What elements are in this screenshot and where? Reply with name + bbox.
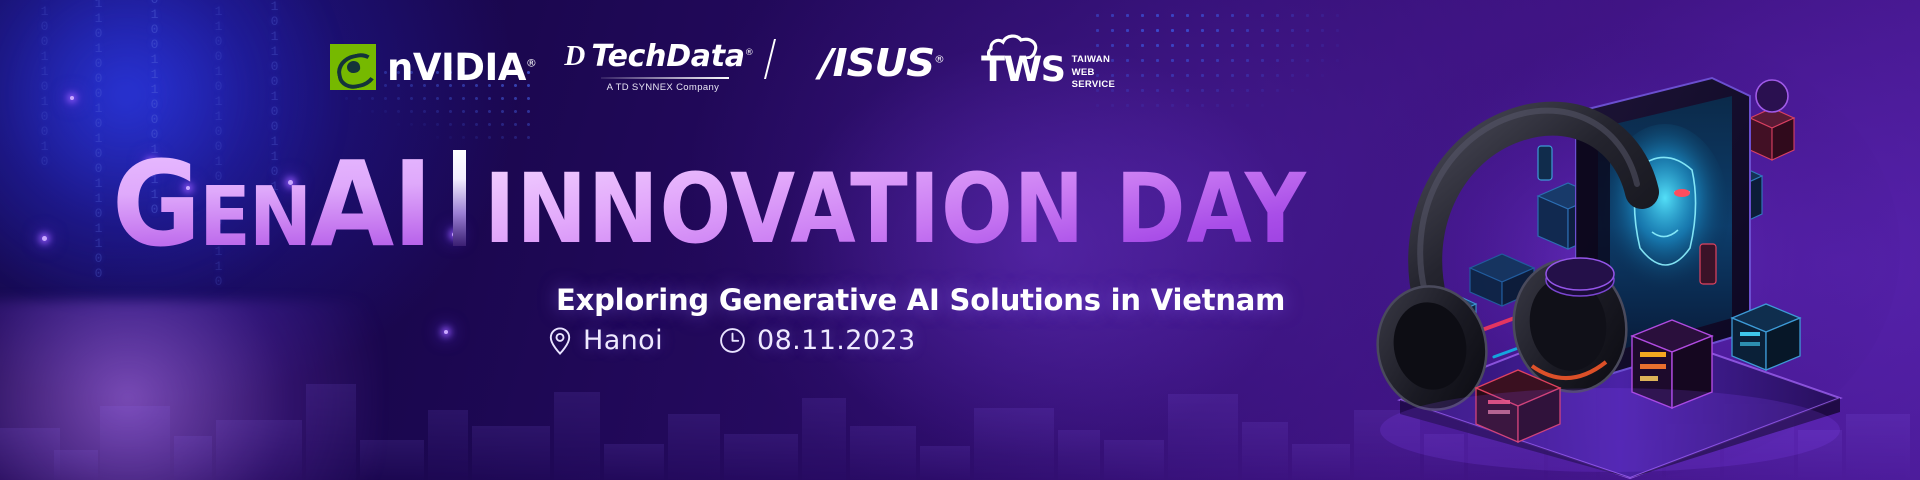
nvidia-eye-icon <box>330 44 376 90</box>
location-pin-icon <box>548 326 572 356</box>
binary-column: 1101000101001101100 <box>92 0 105 281</box>
base-reflection-glow <box>1380 388 1840 472</box>
headline-genai: GENAI <box>112 156 431 253</box>
logo-asus[interactable]: /ISUS® <box>819 36 937 98</box>
light-spark <box>70 96 74 100</box>
skyline-building <box>360 440 424 480</box>
partner-logo-strip: nVIDIA® D TechData® A TD SYNNEX Company … <box>330 36 1115 98</box>
headline-gen-g: G <box>112 135 199 273</box>
logo-techdata[interactable]: D TechData® A TD SYNNEX Company <box>562 36 763 98</box>
skyline-building <box>850 426 916 480</box>
headline-ai: AI <box>310 135 431 273</box>
binary-column: 0010011010010 <box>38 0 51 169</box>
logo-tws[interactable]: TWS TAIWAN WEB SERVICE <box>981 36 1115 98</box>
skyline-building <box>1168 394 1238 480</box>
light-spark <box>444 330 448 334</box>
skyline-building <box>54 450 98 480</box>
headline-divider <box>453 150 466 246</box>
event-date: 08.11.2023 <box>719 325 916 356</box>
tws-sub-line-3: SERVICE <box>1072 79 1116 92</box>
techdata-rule <box>601 77 729 79</box>
light-spark <box>42 236 47 241</box>
tws-mark: TWS <box>981 53 1065 88</box>
techdata-wordmark: TechData® <box>591 42 753 72</box>
techdata-d-icon: D <box>564 42 585 71</box>
skyline-building <box>724 434 798 480</box>
skyline-building <box>472 426 550 480</box>
headline: GENAI INNOVATION DAY <box>112 150 1419 253</box>
techdata-wordmark-row: D TechData® <box>562 42 763 75</box>
techdata-trademark: ® <box>745 48 754 58</box>
skyline-building <box>0 428 60 480</box>
event-location: Hanoi <box>548 325 663 356</box>
asus-trademark: ® <box>935 54 945 65</box>
headline-innovation-day: INNOVATION DAY <box>484 168 1307 253</box>
skyline-building <box>174 436 212 480</box>
event-location-label: Hanoi <box>583 325 663 356</box>
purple-glow-bottom-left <box>0 300 380 480</box>
event-date-label: 08.11.2023 <box>757 325 916 356</box>
subtitle: Exploring Generative AI Solutions in Vie… <box>556 283 1285 317</box>
skyline-building <box>1058 430 1100 480</box>
skyline-building <box>306 384 356 480</box>
skyline-building <box>668 414 720 480</box>
headline-gen-en: EN <box>199 170 310 265</box>
techdata-slash-mark <box>764 39 776 79</box>
techdata-tagline: A TD SYNNEX Company <box>607 82 720 93</box>
logo-nvidia[interactable]: nVIDIA® <box>330 36 536 98</box>
nvidia-wordmark: nVIDIA® <box>387 49 536 86</box>
asus-wordmark: /ISUS® <box>819 44 944 82</box>
skyline-building <box>920 446 970 480</box>
clock-icon <box>719 327 746 354</box>
tws-sub-line-2: WEB <box>1072 67 1116 80</box>
tws-sublabel: TAIWAN WEB SERVICE <box>1072 48 1116 92</box>
skyline-building <box>1104 440 1164 480</box>
genai-innovation-day-banner: 0010011010010110100010100110110010010011… <box>0 0 1920 480</box>
skyline-building <box>974 408 1054 480</box>
nvidia-trademark: ® <box>526 56 537 69</box>
tws-sub-line-1: TAIWAN <box>1072 54 1116 67</box>
skyline-building <box>604 444 664 480</box>
skyline-building <box>554 392 600 480</box>
skyline-building <box>428 410 468 480</box>
skyline-building <box>100 406 170 480</box>
event-meta: Hanoi 08.11.2023 <box>548 325 916 356</box>
skyline-building <box>216 420 302 480</box>
skyline-building <box>802 398 846 480</box>
cloud-icon <box>987 33 1039 59</box>
